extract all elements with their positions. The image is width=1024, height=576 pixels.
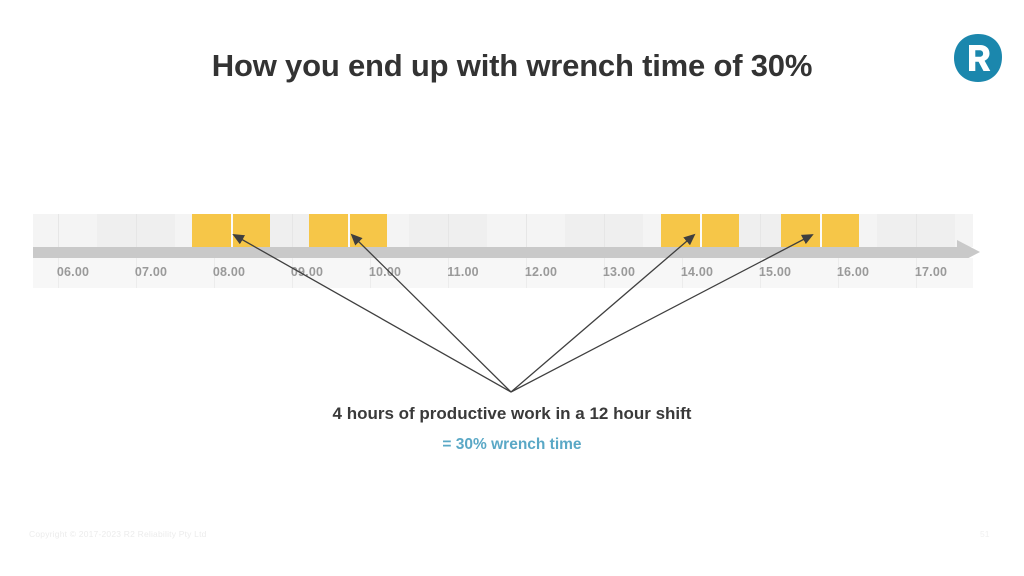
time-label: 13.00 [584,265,654,279]
shift-timeline-chart: 06.00 07.00 08.00 09.00 10.00 11.00 12.0… [33,214,973,288]
work-block[interactable] [661,214,739,247]
footer-page-number: 51 [980,529,989,539]
footer-copyright: Copyright © 2017-2023 R2 Reliability Pty… [29,529,207,539]
timeline-gridline [136,214,137,247]
timeline-gridline [58,214,59,247]
time-label: 16.00 [818,265,888,279]
time-label: 17.00 [896,265,966,279]
time-label: 10.00 [350,265,420,279]
annotation-leader-lines [0,0,1024,576]
work-block[interactable] [192,214,270,247]
time-label: 12.00 [506,265,576,279]
timeline-gridline [448,214,449,247]
time-label: 07.00 [116,265,186,279]
work-block[interactable] [781,214,859,247]
caption-wrench-time: = 30% wrench time [0,436,1024,454]
timeline-gridline [916,214,917,247]
time-label: 09.00 [272,265,342,279]
work-block-divider [348,214,350,247]
timeline-gridline [526,214,527,247]
timeline-plot-area [33,214,973,247]
time-label: 14.00 [662,265,732,279]
work-block-divider [820,214,822,247]
timeline-gridline [292,214,293,247]
work-block[interactable] [309,214,387,247]
caption-productive-work: 4 hours of productive work in a 12 hour … [0,404,1024,424]
time-label: 06.00 [38,265,108,279]
time-label: 11.00 [428,265,498,279]
timeline-gridline [760,214,761,247]
work-block-divider [231,214,233,247]
timeline-axis-band [33,247,959,258]
timeline-labels-row: 06.00 07.00 08.00 09.00 10.00 11.00 12.0… [33,258,973,288]
timeline-gridline [604,214,605,247]
time-label: 08.00 [194,265,264,279]
work-block-divider [700,214,702,247]
page-title: How you end up with wrench time of 30% [0,48,1024,84]
time-label: 15.00 [740,265,810,279]
